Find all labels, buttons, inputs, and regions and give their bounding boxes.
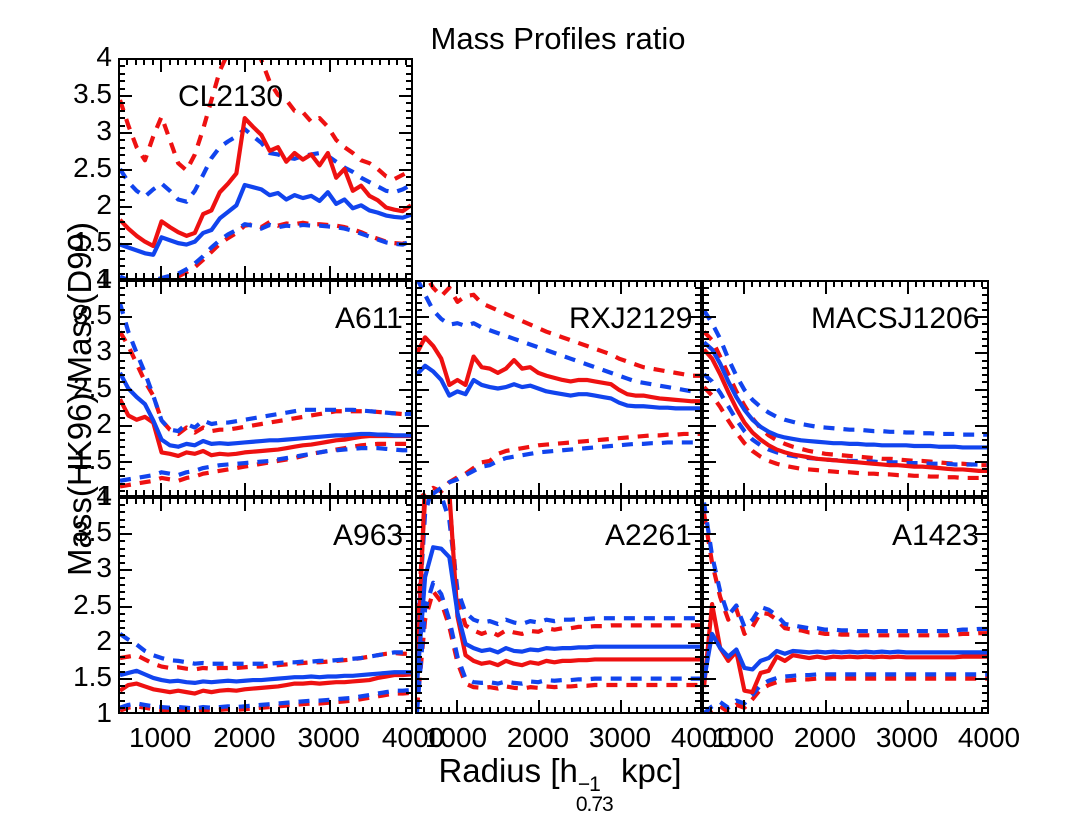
y-tick-label: 3.5	[40, 78, 112, 110]
x-tick	[538, 280, 540, 294]
x-tick	[244, 483, 246, 497]
x-tick	[546, 707, 548, 714]
y-tick	[399, 243, 413, 245]
x-tick	[653, 707, 655, 714]
y-tick	[118, 569, 132, 571]
x-tick	[874, 497, 876, 504]
y-tick	[702, 425, 716, 427]
y-tick	[415, 663, 422, 665]
y-tick	[695, 403, 702, 405]
mass-profiles-ratio-figure: Mass Profiles ratio Mass(HK96)/Mass(D99)…	[0, 0, 1090, 820]
x-tick	[362, 58, 364, 65]
y-tick	[406, 338, 413, 340]
y-tick	[982, 367, 989, 369]
x-axis-label-subscript: 0.73	[576, 793, 613, 817]
x-tick	[571, 280, 573, 287]
x-tick	[329, 497, 331, 511]
x-tick	[396, 273, 398, 280]
x-tick	[743, 483, 745, 497]
y-tick	[118, 663, 125, 665]
y-tick	[118, 80, 125, 82]
y-tick	[702, 685, 709, 687]
x-tick	[320, 280, 322, 287]
x-tick	[554, 497, 556, 504]
y-tick	[982, 302, 989, 304]
y-tick	[415, 634, 422, 636]
y-tick	[406, 360, 413, 362]
y-tick	[118, 162, 125, 164]
x-tick	[817, 497, 819, 504]
x-tick	[907, 280, 909, 294]
y-tick	[406, 707, 413, 709]
x-tick	[669, 497, 671, 504]
x-tick	[645, 707, 647, 714]
y-tick	[982, 685, 989, 687]
x-tick	[530, 497, 532, 504]
x-tick	[932, 497, 934, 504]
y-tick	[702, 287, 709, 289]
x-tick	[261, 273, 263, 280]
y-tick	[975, 712, 989, 714]
y-tick	[415, 468, 422, 470]
x-tick	[563, 280, 565, 287]
y-tick	[688, 352, 702, 354]
x-tick	[669, 490, 671, 497]
x-tick	[579, 497, 581, 504]
y-tick	[695, 692, 702, 694]
y-tick	[118, 213, 125, 215]
y-tick	[406, 446, 413, 448]
y-tick	[118, 88, 125, 90]
y-tick	[118, 294, 125, 296]
y-tick	[118, 302, 125, 304]
x-tick	[907, 483, 909, 497]
y-tick	[415, 417, 422, 419]
x-tick	[472, 490, 474, 497]
y-tick	[118, 403, 125, 405]
x-tick	[530, 707, 532, 714]
y-tick	[415, 569, 429, 571]
y-tick	[399, 678, 413, 680]
x-tick	[362, 280, 364, 287]
y-tick	[415, 461, 429, 463]
x-tick	[287, 497, 289, 504]
x-tick	[513, 490, 515, 497]
x-tick	[270, 273, 272, 280]
y-tick	[118, 671, 125, 673]
x-tick	[236, 280, 238, 287]
y-tick	[695, 323, 702, 325]
x-tick	[718, 707, 720, 714]
y-tick	[982, 432, 989, 434]
x-tick	[727, 497, 729, 504]
x-tick	[964, 707, 966, 714]
x-tick	[295, 273, 297, 280]
y-tick	[982, 381, 989, 383]
x-tick	[388, 280, 390, 287]
y-tick	[702, 548, 709, 550]
x-tick	[456, 497, 458, 511]
y-tick	[399, 497, 413, 499]
y-tick	[406, 403, 413, 405]
x-tick	[800, 707, 802, 714]
y-tick	[982, 656, 989, 658]
x-tick	[152, 58, 154, 65]
x-tick	[792, 497, 794, 504]
x-tick	[874, 490, 876, 497]
x-tick	[312, 497, 314, 504]
y-tick	[695, 287, 702, 289]
y-tick	[982, 323, 989, 325]
y-tick	[695, 620, 702, 622]
x-tick	[228, 707, 230, 714]
x-tick	[160, 280, 162, 294]
y-tick	[982, 634, 989, 636]
panel-label-a963: A963	[333, 519, 403, 553]
x-tick	[202, 497, 204, 504]
y-tick	[415, 352, 429, 354]
x-tick	[669, 707, 671, 714]
y-tick	[695, 367, 702, 369]
y-tick	[702, 519, 709, 521]
y-tick	[118, 692, 125, 694]
y-tick	[415, 280, 429, 282]
x-tick	[768, 490, 770, 497]
x-tick	[135, 707, 137, 714]
x-tick	[546, 280, 548, 287]
y-tick	[118, 490, 125, 492]
x-tick	[489, 490, 491, 497]
y-tick	[415, 700, 422, 702]
x-tick	[612, 497, 614, 504]
y-tick	[695, 671, 702, 673]
x-tick	[253, 273, 255, 280]
y-tick	[406, 656, 413, 658]
x-tick	[396, 497, 398, 504]
x-tick	[456, 280, 458, 294]
x-tick	[932, 280, 934, 287]
y-tick	[695, 584, 702, 586]
x-tick	[202, 273, 204, 280]
x-tick	[202, 58, 204, 65]
x-tick	[595, 707, 597, 714]
x-tick	[530, 280, 532, 287]
x-tick	[538, 497, 540, 511]
y-tick	[702, 446, 709, 448]
y-tick	[688, 606, 702, 608]
y-tick	[406, 692, 413, 694]
x-tick	[388, 273, 390, 280]
y-tick	[415, 548, 422, 550]
y-tick	[695, 598, 702, 600]
x-tick	[253, 497, 255, 504]
x-tick	[636, 490, 638, 497]
x-tick	[169, 490, 171, 497]
x-tick	[431, 707, 433, 714]
y-tick	[406, 374, 413, 376]
x-tick	[261, 707, 263, 714]
y-tick	[406, 147, 413, 149]
y-tick	[695, 511, 702, 513]
y-tick	[118, 73, 125, 75]
y-tick	[982, 294, 989, 296]
x-tick	[661, 490, 663, 497]
y-tick	[118, 265, 125, 267]
x-tick	[841, 490, 843, 497]
x-tick	[743, 497, 745, 511]
y-tick	[415, 316, 429, 318]
x-tick	[538, 483, 540, 497]
y-tick	[118, 381, 125, 383]
x-tick	[841, 497, 843, 504]
x-tick	[464, 707, 466, 714]
y-tick	[975, 425, 989, 427]
y-tick	[406, 562, 413, 564]
x-tick	[312, 280, 314, 287]
x-tick	[554, 280, 556, 287]
x-tick	[751, 707, 753, 714]
y-tick	[982, 555, 989, 557]
y-tick	[695, 490, 702, 492]
y-tick	[406, 685, 413, 687]
y-tick	[982, 454, 989, 456]
y-tick	[982, 540, 989, 542]
y-tick	[118, 125, 125, 127]
y-tick	[702, 678, 716, 680]
y-tick	[118, 154, 125, 156]
y-tick	[415, 562, 422, 564]
x-tick	[337, 490, 339, 497]
y-tick	[695, 627, 702, 629]
x-tick	[825, 483, 827, 497]
y-tick	[975, 678, 989, 680]
x-tick	[320, 490, 322, 497]
x-tick	[346, 490, 348, 497]
y-tick-label: 3.5	[40, 299, 112, 331]
y-tick	[695, 591, 702, 593]
x-tick	[295, 707, 297, 714]
y-tick	[118, 316, 132, 318]
y-tick	[406, 162, 413, 164]
y-tick	[415, 584, 422, 586]
x-tick	[354, 490, 356, 497]
x-tick	[261, 490, 263, 497]
x-tick	[653, 490, 655, 497]
x-tick	[211, 280, 213, 287]
y-tick	[415, 432, 422, 434]
x-tick	[489, 707, 491, 714]
y-tick	[982, 410, 989, 412]
x-tick	[727, 707, 729, 714]
y-tick-label: 4	[40, 41, 112, 73]
y-tick	[688, 712, 702, 714]
x-tick	[481, 497, 483, 504]
x-tick	[278, 280, 280, 287]
x-tick	[554, 490, 556, 497]
x-tick	[718, 497, 720, 504]
y-tick	[982, 446, 989, 448]
y-tick	[695, 396, 702, 398]
x-tick	[923, 280, 925, 287]
x-tick	[303, 707, 305, 714]
x-tick	[948, 497, 950, 504]
y-tick	[118, 199, 125, 201]
y-tick	[695, 331, 702, 333]
x-tick	[858, 490, 860, 497]
y-tick	[406, 228, 413, 230]
x-tick	[287, 58, 289, 65]
y-tick	[399, 58, 413, 60]
x-tick	[636, 497, 638, 504]
x-tick	[604, 497, 606, 504]
y-tick	[406, 331, 413, 333]
x-tick	[628, 280, 630, 287]
y-tick	[415, 302, 422, 304]
x-tick	[571, 497, 573, 504]
y-tick	[695, 613, 702, 615]
x-tick	[677, 707, 679, 714]
x-tick	[362, 707, 364, 714]
y-tick	[118, 228, 125, 230]
y-tick	[406, 184, 413, 186]
x-tick	[320, 497, 322, 504]
x-tick	[841, 707, 843, 714]
y-tick	[695, 663, 702, 665]
x-tick	[915, 490, 917, 497]
x-tick	[776, 707, 778, 714]
y-tick	[415, 642, 429, 644]
x-tick	[228, 280, 230, 287]
y-tick	[702, 562, 709, 564]
x-tick	[177, 707, 179, 714]
y-tick	[702, 649, 709, 651]
y-tick	[982, 700, 989, 702]
y-tick	[702, 712, 716, 714]
y-tick	[406, 302, 413, 304]
x-tick	[287, 490, 289, 497]
x-tick	[563, 707, 565, 714]
x-tick	[388, 497, 390, 504]
y-tick	[702, 294, 709, 296]
x-tick	[800, 490, 802, 497]
x-tick	[825, 700, 827, 714]
y-tick	[702, 634, 709, 636]
x-tick	[303, 497, 305, 504]
x-tick	[587, 280, 589, 287]
x-tick	[135, 497, 137, 504]
x-tick	[346, 707, 348, 714]
x-tick	[354, 707, 356, 714]
y-tick	[406, 526, 413, 528]
x-tick	[735, 490, 737, 497]
x-tick	[497, 707, 499, 714]
x-tick	[177, 273, 179, 280]
y-tick	[702, 555, 709, 557]
x-tick	[645, 490, 647, 497]
y-tick	[702, 606, 716, 608]
y-tick	[118, 454, 125, 456]
y-tick	[406, 483, 413, 485]
x-tick	[481, 707, 483, 714]
y-tick	[118, 606, 132, 608]
x-tick	[882, 497, 884, 504]
y-tick	[399, 569, 413, 571]
y-tick	[702, 497, 716, 499]
y-tick	[982, 374, 989, 376]
x-tick	[784, 280, 786, 287]
y-tick	[406, 671, 413, 673]
y-tick	[118, 345, 125, 347]
y-tick	[406, 213, 413, 215]
y-tick	[702, 490, 709, 492]
y-tick	[399, 280, 413, 282]
y-tick	[695, 454, 702, 456]
x-tick	[236, 490, 238, 497]
x-tick	[727, 280, 729, 287]
y-tick	[415, 555, 422, 557]
x-tick	[850, 280, 852, 287]
y-tick	[415, 360, 422, 362]
y-tick	[702, 468, 709, 470]
y-tick	[688, 497, 702, 499]
y-tick	[406, 191, 413, 193]
y-tick	[406, 154, 413, 156]
y-tick	[695, 634, 702, 636]
y-tick	[406, 540, 413, 542]
x-tick	[228, 490, 230, 497]
y-tick	[982, 519, 989, 521]
y-tick	[982, 598, 989, 600]
y-tick	[118, 176, 125, 178]
y-tick	[982, 707, 989, 709]
x-tick	[202, 280, 204, 287]
x-tick	[440, 490, 442, 497]
y-tick	[406, 548, 413, 550]
y-tick	[415, 511, 422, 513]
y-tick	[118, 338, 125, 340]
x-tick	[522, 707, 524, 714]
y-tick	[406, 504, 413, 506]
x-tick	[371, 497, 373, 504]
y-tick	[399, 389, 413, 391]
x-tick	[899, 280, 901, 287]
x-tick	[923, 490, 925, 497]
y-tick	[118, 519, 125, 521]
x-tick	[809, 280, 811, 287]
y-tick	[415, 309, 422, 311]
x-tick	[379, 497, 381, 504]
y-tick	[118, 139, 125, 141]
y-tick	[118, 555, 125, 557]
y-tick-label: 4	[40, 480, 112, 512]
y-tick	[982, 584, 989, 586]
y-tick	[702, 381, 709, 383]
x-tick	[152, 497, 154, 504]
x-tick	[236, 707, 238, 714]
y-tick	[982, 338, 989, 340]
y-tick	[702, 302, 709, 304]
x-tick	[329, 58, 331, 72]
y-tick	[695, 410, 702, 412]
y-tick	[702, 511, 709, 513]
x-tick	[354, 497, 356, 504]
x-tick	[464, 280, 466, 287]
x-tick	[379, 490, 381, 497]
y-tick	[695, 475, 702, 477]
y-tick	[695, 432, 702, 434]
y-tick	[399, 606, 413, 608]
y-tick	[702, 389, 716, 391]
